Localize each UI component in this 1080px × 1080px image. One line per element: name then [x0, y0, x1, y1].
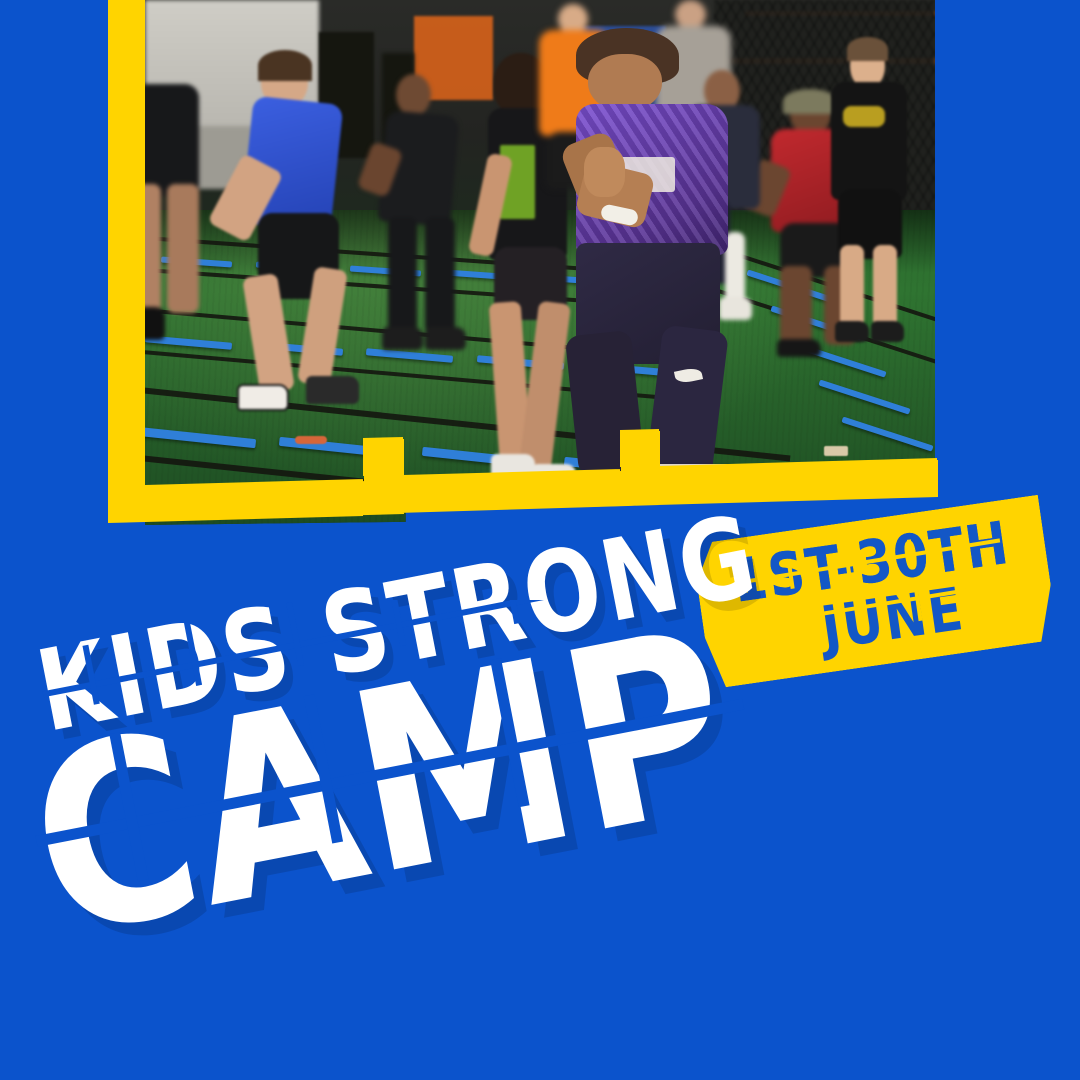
head [396, 74, 431, 116]
shoe [145, 307, 165, 339]
hand [584, 147, 625, 197]
poster-canvas: 1ST-30TH JUNE KIDS STRONG CAMP [0, 0, 1080, 1080]
leg [167, 184, 199, 313]
turf-debris [824, 446, 848, 455]
headline-block: KIDS STRONG CAMP [0, 600, 1080, 1020]
hair [258, 50, 312, 81]
shoe [871, 321, 904, 342]
leg [388, 217, 418, 334]
photo-scene [145, 0, 935, 525]
hero-athlete [564, 16, 769, 520]
shoe [835, 321, 868, 342]
leg [873, 245, 897, 328]
turf-debris [295, 436, 327, 444]
shoe [382, 327, 422, 350]
shoe [654, 464, 736, 497]
team-print [843, 106, 886, 127]
torso [145, 84, 199, 196]
athlete-coyotes-tee [817, 37, 936, 384]
head [588, 54, 662, 112]
shoe [306, 376, 358, 403]
torso [831, 82, 907, 200]
leg [840, 245, 864, 328]
shoe [491, 454, 535, 482]
shoe [237, 384, 289, 411]
athlete-far-left [145, 84, 216, 378]
hero-photo [145, 0, 935, 525]
leg [145, 184, 161, 319]
hair [847, 37, 887, 61]
leg [425, 217, 455, 334]
